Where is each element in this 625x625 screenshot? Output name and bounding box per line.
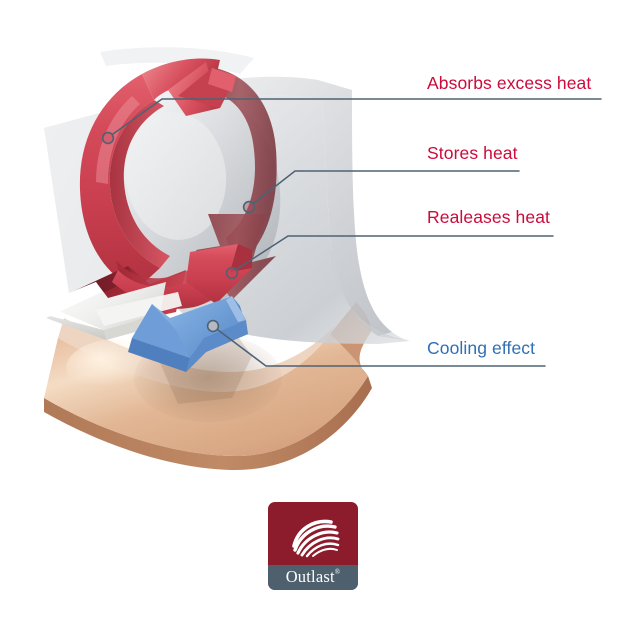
callout-marker-absorbs bbox=[103, 133, 114, 144]
callout-marker-stores bbox=[244, 202, 255, 213]
callout-marker-releases bbox=[227, 268, 238, 279]
callout-label-absorbs-excess-heat: Absorbs excess heat bbox=[427, 75, 591, 93]
outlast-swoosh-icon bbox=[268, 502, 358, 566]
outlast-wordmark: Outlast® bbox=[286, 567, 341, 587]
callout-label-stores-heat: Stores heat bbox=[427, 145, 518, 163]
callout-marker-cooling bbox=[208, 321, 219, 332]
diagram-canvas: Absorbs excess heat Stores heat Realease… bbox=[0, 0, 625, 625]
callout-label-realeases-heat: Realeases heat bbox=[427, 209, 550, 227]
outlast-logo: Outlast® bbox=[268, 502, 358, 590]
callout-label-cooling-effect: Cooling effect bbox=[427, 340, 535, 358]
outlast-logo-band: Outlast® bbox=[268, 565, 358, 590]
